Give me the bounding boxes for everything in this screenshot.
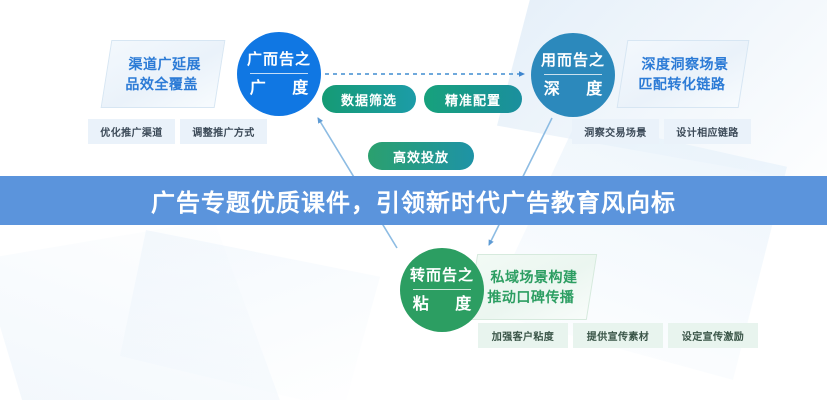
card-left-line-2: 品效全覆盖 [125,74,197,94]
info-card-bottom: 私域场景构建 推动口碑传播 [467,254,597,320]
chip-insight-scene: 洞察交易场景 [572,119,659,144]
node-shendu-title: 用而告之 [541,53,605,74]
info-card-right: 深度洞察场景 匹配转化链路 [617,40,750,108]
pill-precise-config: 精准配置 [424,85,522,113]
node-niandu-title: 转而告之 [410,268,474,289]
node-shendu: 用而告之 深 度 [531,33,615,117]
card-bottom-line-1: 私域场景构建 [490,267,577,287]
chip-adjust-promotion: 调整推广方式 [180,119,267,144]
node-guangdu: 广而告之 广 度 [237,32,321,116]
node-niandu-subtitle: 粘 度 [402,297,482,313]
node-guangdu-subtitle: 广 度 [239,81,319,97]
node-shendu-subtitle: 深 度 [533,82,613,98]
node-guangdu-title: 广而告之 [247,52,311,73]
chip-provide-material: 提供宣传素材 [573,323,663,348]
banner-title-text: 广告专题优质课件，引领新时代广告教育风向标 [151,183,676,218]
card-right-line-2: 匹配转化链路 [638,74,725,94]
chip-set-incentive: 设定宣传激励 [668,323,758,348]
card-left-line-1: 渠道广延展 [128,54,201,74]
node-guangdu-divider [250,73,308,74]
title-banner: 广告专题优质课件，引领新时代广告教育风向标 [0,176,827,225]
node-shendu-divider [544,74,602,75]
info-card-left: 渠道广延展 品效全覆盖 [101,40,226,108]
background-polygon-wash [0,220,280,400]
infographic-canvas: 渠道广延展 品效全覆盖 深度洞察场景 匹配转化链路 私域场景构建 推动口碑传播 … [0,0,827,400]
chip-optimize-channel: 优化推广渠道 [88,119,175,144]
pill-data-filtering: 数据筛选 [322,85,416,113]
card-bottom-line-2: 推动口碑传播 [487,287,574,307]
background-polygon-wash [120,230,380,400]
node-niandu-divider [413,289,471,290]
chip-strengthen-stickiness: 加强客户粘度 [478,323,568,348]
chip-design-path: 设计相应链路 [664,119,751,144]
pill-efficient-delivery: 高效投放 [368,142,474,170]
node-niandu: 转而告之 粘 度 [400,248,484,332]
card-right-line-1: 深度洞察场景 [641,54,728,74]
